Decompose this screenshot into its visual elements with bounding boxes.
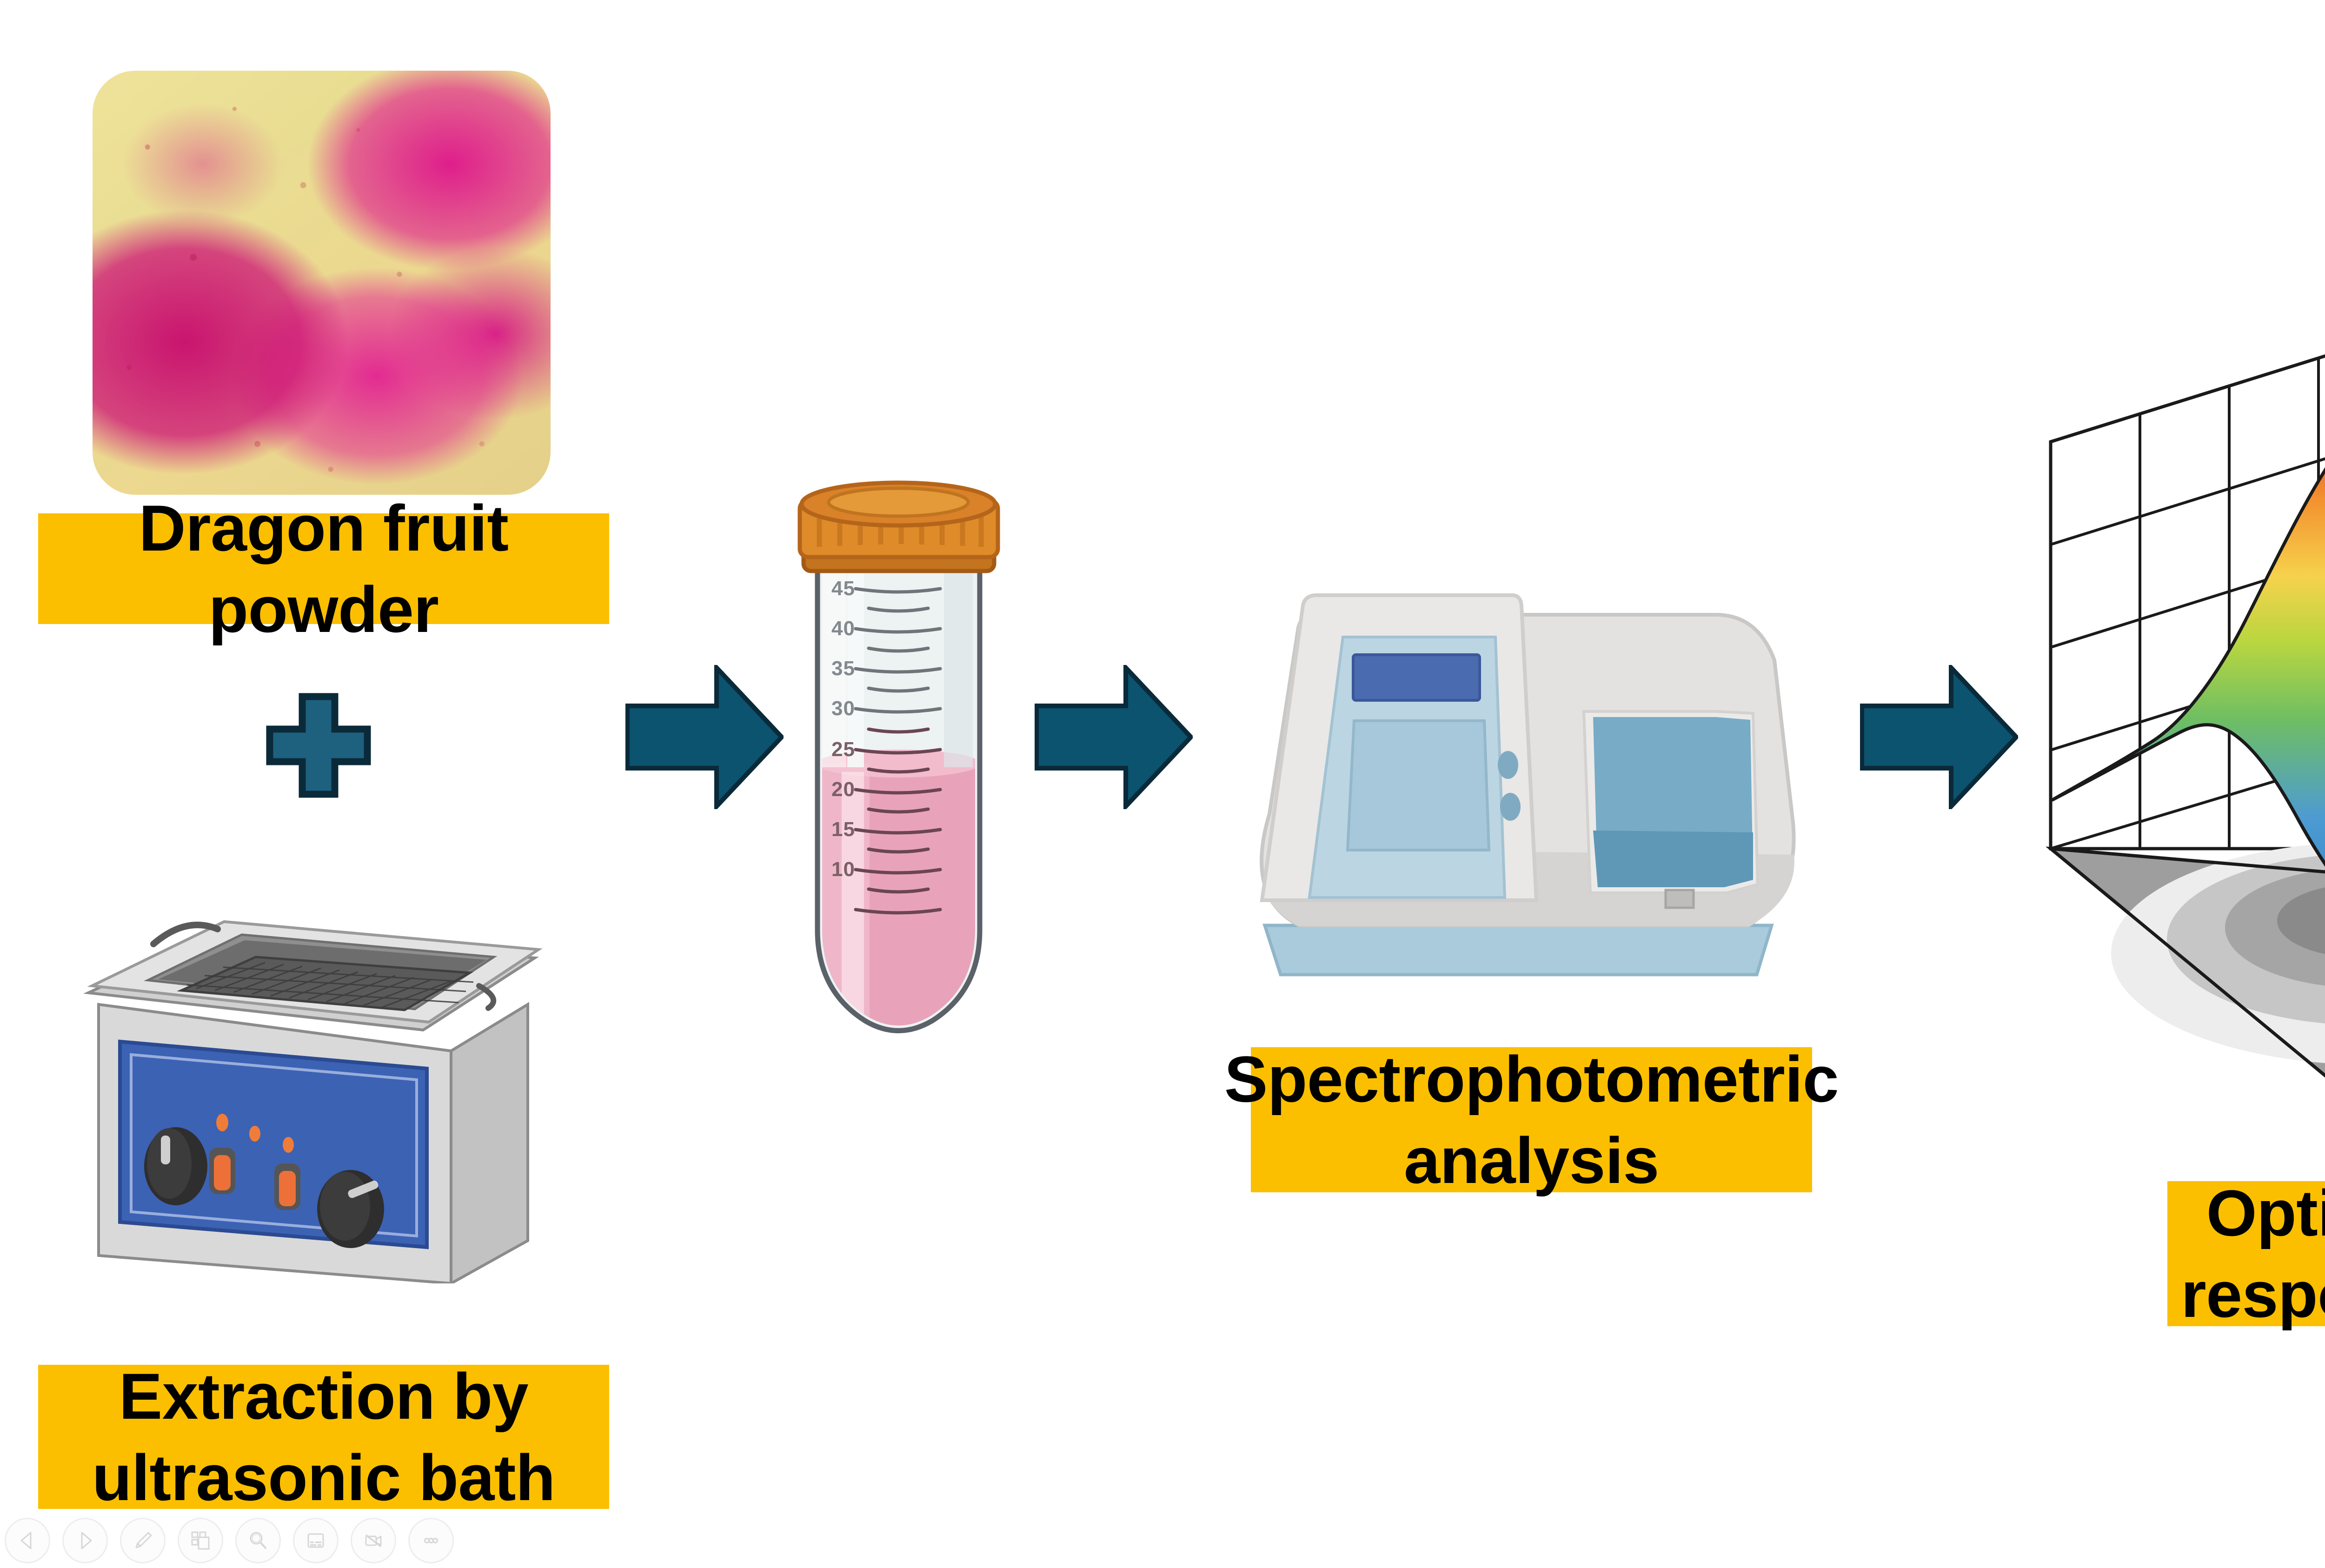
toggle-subtitles-button[interactable] [293,1518,339,1563]
camera-off-button[interactable] [351,1518,396,1563]
presentation-toolbar [5,1515,553,1566]
zoom-into-slide-button[interactable] [235,1518,281,1563]
svg-text:20: 20 [831,778,855,801]
caption-text-line2: ultrasonic bath [92,1437,555,1518]
svg-text:45: 45 [831,577,855,600]
chevron-right-icon [74,1530,96,1551]
more-options-button[interactable] [408,1518,454,1563]
slide-grid-view-button[interactable] [178,1518,223,1563]
pen-icon [132,1529,154,1552]
magnifier-icon [247,1529,269,1552]
caption-dragon-fruit-powder: Dragon fruit powder [38,513,609,624]
response-surface-3d-plot [2046,302,2325,1167]
camera-off-icon [362,1529,385,1552]
caption-text: Dragon fruit powder [38,487,609,650]
svg-text:35: 35 [831,657,855,680]
spectrophotometer-illustration [1200,572,1832,995]
caption-text-line2: response surface [2181,1254,2325,1335]
caption-text-line1: Optimization by [2181,1172,2325,1254]
svg-text:15: 15 [831,818,855,841]
falcon-tube-illustration: 45 40 35 30 25 20 15 10 [790,456,1007,1042]
grid-slides-icon [189,1529,212,1552]
svg-text:40: 40 [831,617,855,640]
powder-grain-texture [93,71,551,495]
plus-symbol-icon [260,687,377,804]
svg-text:10: 10 [831,858,855,881]
subtitles-icon [305,1529,327,1552]
previous-slide-button[interactable] [5,1518,50,1563]
chevron-left-icon [17,1530,38,1551]
svg-text:25: 25 [831,738,855,761]
arrow-3-icon [1860,665,2018,809]
caption-text-line1: Spectrophotometric [1224,1038,1839,1120]
ellipsis-icon [420,1529,442,1552]
ultrasonic-bath-illustration [70,851,553,1283]
caption-text-line1: Extraction by [92,1355,555,1437]
caption-extraction-ultrasonic-bath: Extraction by ultrasonic bath [38,1365,609,1509]
caption-spectrophotometric-analysis: Spectrophotometric analysis [1251,1047,1812,1192]
pen-annotation-button[interactable] [120,1518,166,1563]
caption-optimization-response-surface: Optimization by response surface [2167,1181,2325,1326]
caption-text-line2: analysis [1224,1120,1839,1201]
arrow-2-icon [1035,665,1193,809]
presentation-slide: Dragon fruit powder [0,0,2325,1568]
arrow-1-icon [625,665,784,809]
dragon-fruit-powder-photo [93,71,551,495]
next-slide-button[interactable] [62,1518,108,1563]
svg-text:30: 30 [831,697,855,720]
